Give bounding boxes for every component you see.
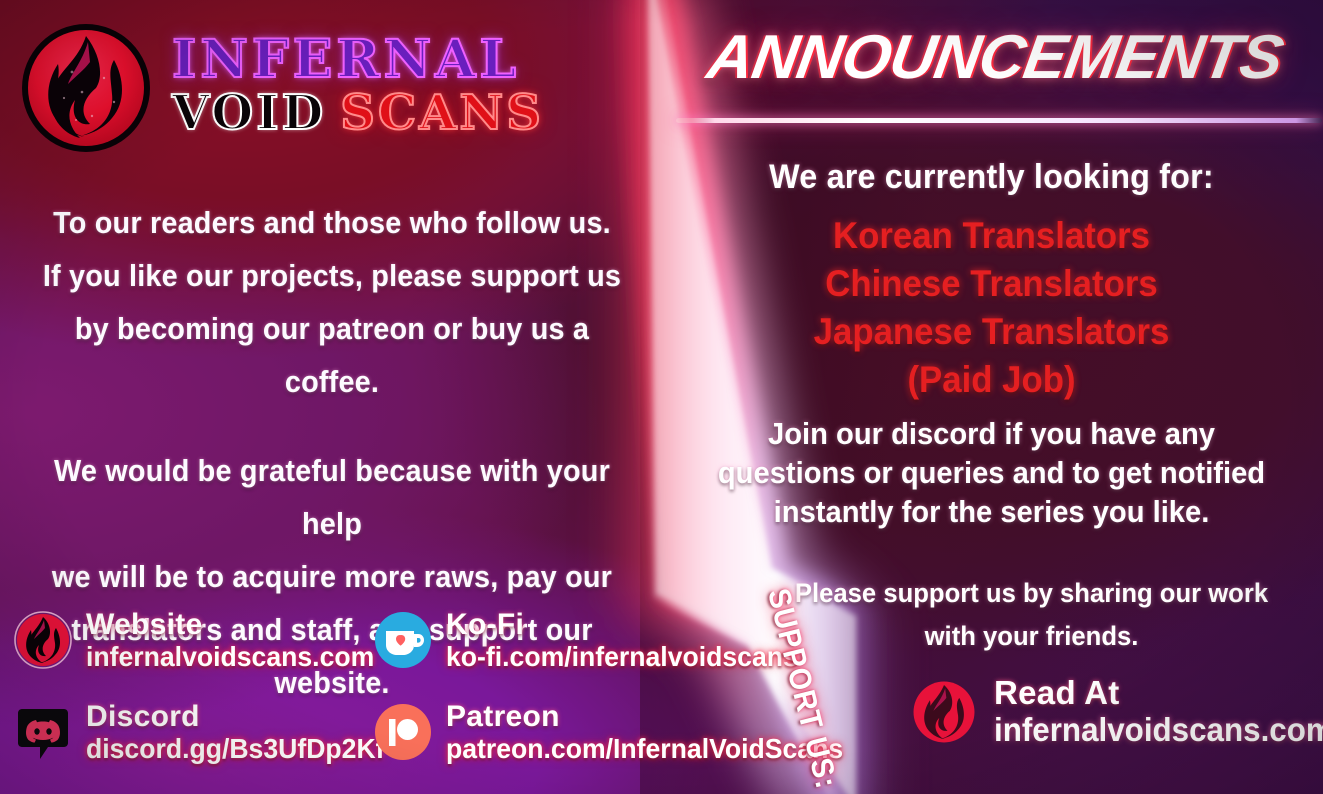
patreon-icon [374,703,432,761]
share-note-line: Please support us by sharing our work [755,572,1309,615]
open-roles-list: Korean Translators Chinese Translators J… [680,212,1303,404]
role-item-paid-job: (Paid Job) [680,356,1303,404]
share-note: Please support us by sharing our work wi… [755,572,1309,658]
left-panel: INFERNAL VOIDSCANS To our readers and th… [0,0,660,794]
brand-word-scans: SCANS [340,85,544,141]
read-at-text: Read At infernalvoidscans.com [994,676,1323,747]
flame-circle-logo-icon [18,20,154,156]
read-at-url: infernalvoidscans.com [994,713,1323,748]
social-link-website[interactable]: Website infernalvoidscans.com [14,594,370,686]
read-at-title: Read At [994,676,1323,711]
looking-for-heading: We are currently looking for: [677,158,1307,197]
social-url: discord.gg/Bs3UfDp2Kf [86,734,385,763]
title-underline-divider [676,118,1322,123]
share-note-line: with your friends. [755,615,1309,658]
message-line: We would be grateful because with your h… [31,444,634,550]
message-line: If you like our projects, please support… [31,249,634,302]
role-item: Chinese Translators [680,260,1303,308]
social-text: Discord discord.gg/Bs3UfDp2Kf [86,701,400,764]
social-title: Website [86,609,389,641]
read-at-link[interactable]: Read At infernalvoidscans.com [910,676,1323,747]
role-item: Korean Translators [680,212,1303,260]
social-title: Discord [86,701,400,733]
social-text: Website infernalvoidscans.com [86,609,389,672]
brand-header: INFERNAL VOIDSCANS [18,18,638,158]
discord-note: Join our discord if you have any questio… [680,414,1303,531]
message-line: by becoming our patreon or buy us a coff… [31,302,634,408]
social-link-discord[interactable]: Discord discord.gg/Bs3UfDp2Kf [14,686,370,778]
discord-icon [14,703,72,761]
discord-note-line: questions or queries and to get notified [680,453,1303,492]
kofi-cup-icon [374,611,432,669]
brand-wordmark: INFERNAL VOIDSCANS [172,34,544,138]
announcements-title: ANNOUNCEMENTS [658,22,1323,93]
discord-note-line: instantly for the series you like. [680,492,1303,531]
message-line: To our readers and those who follow us. [31,196,634,249]
discord-note-line: Join our discord if you have any [680,414,1303,453]
flame-circle-logo-icon [14,611,72,669]
brand-word-void: VOID [172,85,340,141]
message-spacer [31,408,634,444]
role-item: Japanese Translators [680,308,1303,356]
brand-line-void-scans: VOIDSCANS [172,88,544,138]
right-panel: ANNOUNCEMENTS We are currently looking f… [660,0,1323,794]
flame-circle-logo-icon [910,678,978,746]
social-url: infernalvoidscans.com [86,642,374,671]
brand-line-infernal: INFERNAL [172,34,544,86]
announcement-banner: INFERNAL VOIDSCANS To our readers and th… [0,0,1323,794]
